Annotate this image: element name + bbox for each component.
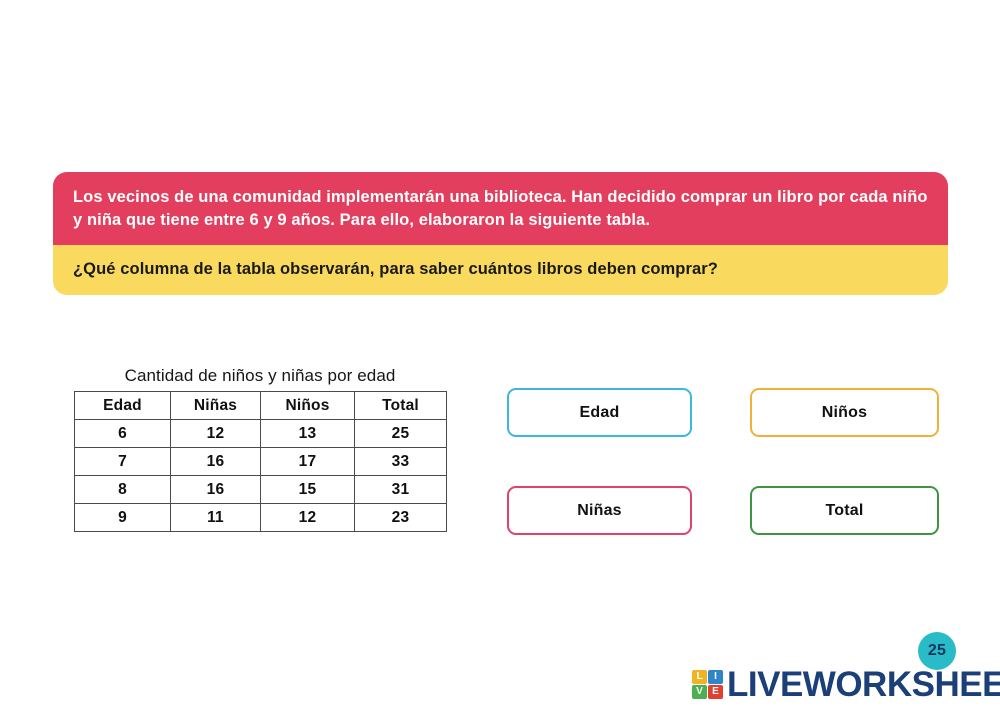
cell-edad: 7: [75, 448, 171, 476]
logo-tile-l: L: [692, 670, 707, 684]
column-header-total: Total: [355, 392, 447, 420]
cell-ninos: 17: [261, 448, 355, 476]
column-header-ninas: Niñas: [171, 392, 261, 420]
cell-ninas: 16: [171, 476, 261, 504]
cell-total: 33: [355, 448, 447, 476]
cell-edad: 6: [75, 420, 171, 448]
data-table-block: Cantidad de niños y niñas por edad Edad …: [74, 366, 446, 532]
liveworksheets-brand: L I V E LIVEWORKSHEETS: [692, 664, 1000, 704]
cell-ninos: 13: [261, 420, 355, 448]
answer-option-ninos[interactable]: Niños: [750, 388, 939, 437]
table-row: 6 12 13 25: [75, 420, 447, 448]
column-header-edad: Edad: [75, 392, 171, 420]
problem-statement: Los vecinos de una comunidad implementar…: [53, 172, 948, 245]
brand-wordmark: LIVEWORKSHEETS: [727, 667, 1000, 702]
cell-total: 25: [355, 420, 447, 448]
table-header-row: Edad Niñas Niños Total: [75, 392, 447, 420]
table-row: 9 11 12 23: [75, 504, 447, 532]
cell-edad: 9: [75, 504, 171, 532]
logo-tile-i: I: [708, 670, 723, 684]
logo-tile-e: E: [708, 685, 723, 699]
cell-ninos: 15: [261, 476, 355, 504]
answer-option-ninas[interactable]: Niñas: [507, 486, 692, 535]
problem-question: ¿Qué columna de la tabla observarán, par…: [53, 245, 948, 295]
age-counts-table: Edad Niñas Niños Total 6 12 13 25 7 16 1…: [74, 391, 447, 532]
prompt-banner: Los vecinos de una comunidad implementar…: [53, 172, 948, 295]
cell-ninas: 11: [171, 504, 261, 532]
answer-options: Edad Niños Niñas Total: [507, 388, 939, 535]
answer-option-total[interactable]: Total: [750, 486, 939, 535]
cell-ninas: 16: [171, 448, 261, 476]
table-title: Cantidad de niños y niñas por edad: [74, 366, 446, 391]
cell-edad: 8: [75, 476, 171, 504]
table-row: 7 16 17 33: [75, 448, 447, 476]
column-header-ninos: Niños: [261, 392, 355, 420]
cell-total: 31: [355, 476, 447, 504]
liveworksheets-logo-icon: L I V E: [692, 670, 723, 699]
cell-total: 23: [355, 504, 447, 532]
cell-ninos: 12: [261, 504, 355, 532]
table-row: 8 16 15 31: [75, 476, 447, 504]
cell-ninas: 12: [171, 420, 261, 448]
logo-tile-v: V: [692, 685, 707, 699]
answer-option-edad[interactable]: Edad: [507, 388, 692, 437]
